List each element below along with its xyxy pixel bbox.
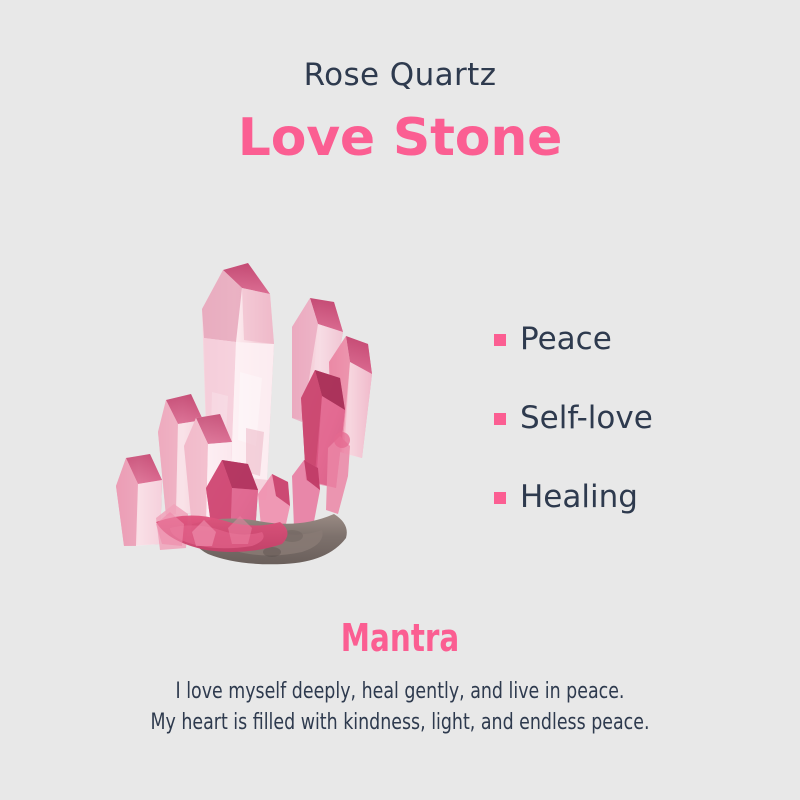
property-label: Peace: [520, 324, 612, 355]
rose-quartz-crystal-image: [96, 232, 396, 572]
bullet-square-icon: [494, 334, 506, 346]
property-label: Self-love: [520, 403, 653, 434]
header: Rose Quartz Love Stone: [0, 58, 800, 167]
mantra-line: My heart is filled with kindness, light,…: [48, 707, 752, 738]
list-item: Self-love: [494, 379, 774, 458]
bullet-square-icon: [494, 492, 506, 504]
mantra-line: I love myself deeply, heal gently, and l…: [48, 676, 752, 707]
bullet-square-icon: [494, 413, 506, 425]
mantra-heading: Mantra: [56, 618, 744, 660]
mantra-section: Mantra I love myself deeply, heal gently…: [0, 618, 800, 738]
property-label: Healing: [520, 482, 638, 513]
properties-list: Peace Self-love Healing: [494, 300, 774, 537]
crystal-left-low: [116, 454, 162, 546]
list-item: Peace: [494, 300, 774, 379]
crystal-cluster-illustration: [96, 232, 396, 572]
page-title: Love Stone: [0, 110, 800, 167]
list-item: Healing: [494, 458, 774, 537]
mantra-body: I love myself deeply, heal gently, and l…: [0, 676, 800, 738]
page-eyebrow: Rose Quartz: [0, 58, 800, 94]
rose-quartz-card: Rose Quartz Love Stone: [0, 0, 800, 800]
